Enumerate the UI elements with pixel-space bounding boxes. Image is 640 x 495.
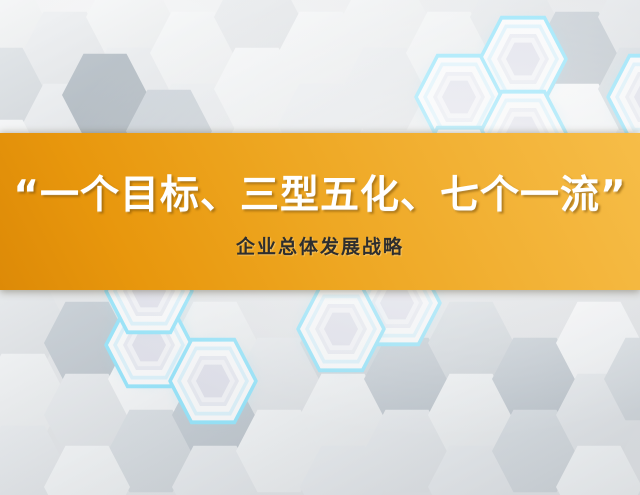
page-title: “一个目标、三型五化、七个一流”: [13, 164, 626, 220]
glowing-hexagon: [606, 52, 640, 142]
page-subtitle: 企业总体发展战略: [236, 232, 404, 259]
glowing-hexagon: [296, 284, 386, 374]
presentation-slide: “一个目标、三型五化、七个一流” 企业总体发展战略: [0, 0, 640, 495]
title-banner: “一个目标、三型五化、七个一流” 企业总体发展战略: [0, 133, 640, 290]
